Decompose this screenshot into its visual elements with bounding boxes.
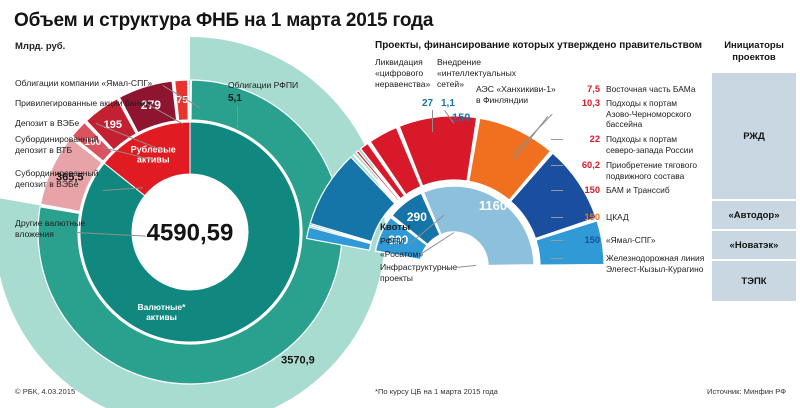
project-name: Подходы к портам северо-запада России	[606, 134, 714, 155]
quotas-heading: Квоты	[380, 222, 410, 234]
svg-text:1160: 1160	[479, 198, 507, 213]
callout-label-veb-subordinated: Субординированный депозит в ВЭБе	[15, 168, 99, 190]
fan-value-digital-inequality: 27	[422, 98, 433, 109]
initiator-box: «Автодор»	[712, 201, 796, 229]
footer-note: *По курсу ЦБ на 1 марта 2015 года	[375, 387, 498, 396]
project-name: Подходы к портам Азово-Черноморского бас…	[606, 98, 714, 130]
callout-label-rfpi-bonds: Облигации РФПИ	[228, 80, 298, 91]
project-name: БАМ и Транссиб	[606, 185, 714, 196]
project-name: «Ямал-СПГ»	[606, 235, 714, 246]
project-leader-tick	[551, 139, 563, 140]
quotas-item-rosatom: «Росатом»	[380, 249, 423, 260]
callout-label-vtb-subordinated: Субординированный депозит в ВТБ	[15, 134, 99, 156]
project-leader-tick	[551, 240, 563, 241]
project-name: Восточная часть БАМа	[606, 84, 714, 95]
quotas-item-rfpi: РФПИ	[380, 236, 405, 247]
svg-text:Валютные*: Валютные*	[138, 302, 187, 312]
initiator-box: ТЭПК	[712, 261, 796, 301]
project-name: Железнодорожная линия Элегест-Кызыл-Кура…	[606, 253, 714, 274]
callout-label-preferred-shares: Привилегированные акции банков	[15, 98, 152, 109]
infographic-root: Объем и структура ФНБ на 1 марта 2015 го…	[0, 0, 800, 408]
project-value: 10,3	[566, 98, 600, 108]
callout-label-veb-deposit: Депозит в ВЭБе	[15, 118, 79, 129]
callout-value-rfpi-bonds: 5,1	[228, 93, 242, 104]
callout-label-yamal-bonds: Облигации компании «Ямал-СПГ»	[15, 78, 152, 89]
project-leader-tick	[551, 217, 563, 218]
project-value: 150	[566, 235, 600, 245]
footer-copyright: © РБК, 4.03.2015	[15, 387, 75, 396]
project-leader-tick	[551, 190, 563, 191]
project-name: ЦКАД	[606, 212, 714, 223]
project-leader-tick	[551, 258, 563, 259]
fan-value-smart-grids: 1,1	[441, 98, 455, 109]
page-title: Объем и структура ФНБ на 1 марта 2015 го…	[14, 10, 433, 32]
fan-label-hanhikivi: АЭС «Ханхикиви-1» в Финляндии	[476, 84, 568, 106]
project-value: 86,86	[566, 253, 600, 263]
project-leader-tick	[551, 165, 563, 166]
svg-text:3570,9: 3570,9	[281, 355, 315, 367]
project-value: 22	[566, 134, 600, 144]
initiator-box: РЖД	[712, 73, 796, 199]
initiator-box: «Новатэк»	[712, 231, 796, 259]
callout-label-other-currency: Другие валютные вложения	[15, 218, 85, 240]
quotas-item-infrastructure: Инфраструктурные проекты	[380, 262, 457, 284]
donut-center-total: 4590,59	[147, 219, 234, 246]
project-value: 150	[566, 212, 600, 222]
right-section-title: Проекты, финансирование которых утвержде…	[375, 40, 702, 51]
leader-line-digital	[432, 110, 433, 132]
project-value: 60,2	[566, 160, 600, 170]
project-name: Приобретение тягового подвижного состава	[606, 160, 714, 181]
initiators-column-title: Инициаторы проектов	[712, 40, 796, 64]
project-value: 150	[566, 185, 600, 195]
footer-source: Источник: Минфин РФ	[707, 387, 786, 396]
fan-value-hanhikivi: 150	[452, 112, 470, 124]
project-value: 7,5	[566, 84, 600, 94]
units-label: Млрд. руб.	[15, 41, 65, 52]
leader-line-rfpi	[237, 106, 238, 128]
svg-text:активы: активы	[146, 312, 177, 322]
fan-label-digital-inequality: Ликвидация «цифрового неравенства»	[375, 57, 437, 90]
